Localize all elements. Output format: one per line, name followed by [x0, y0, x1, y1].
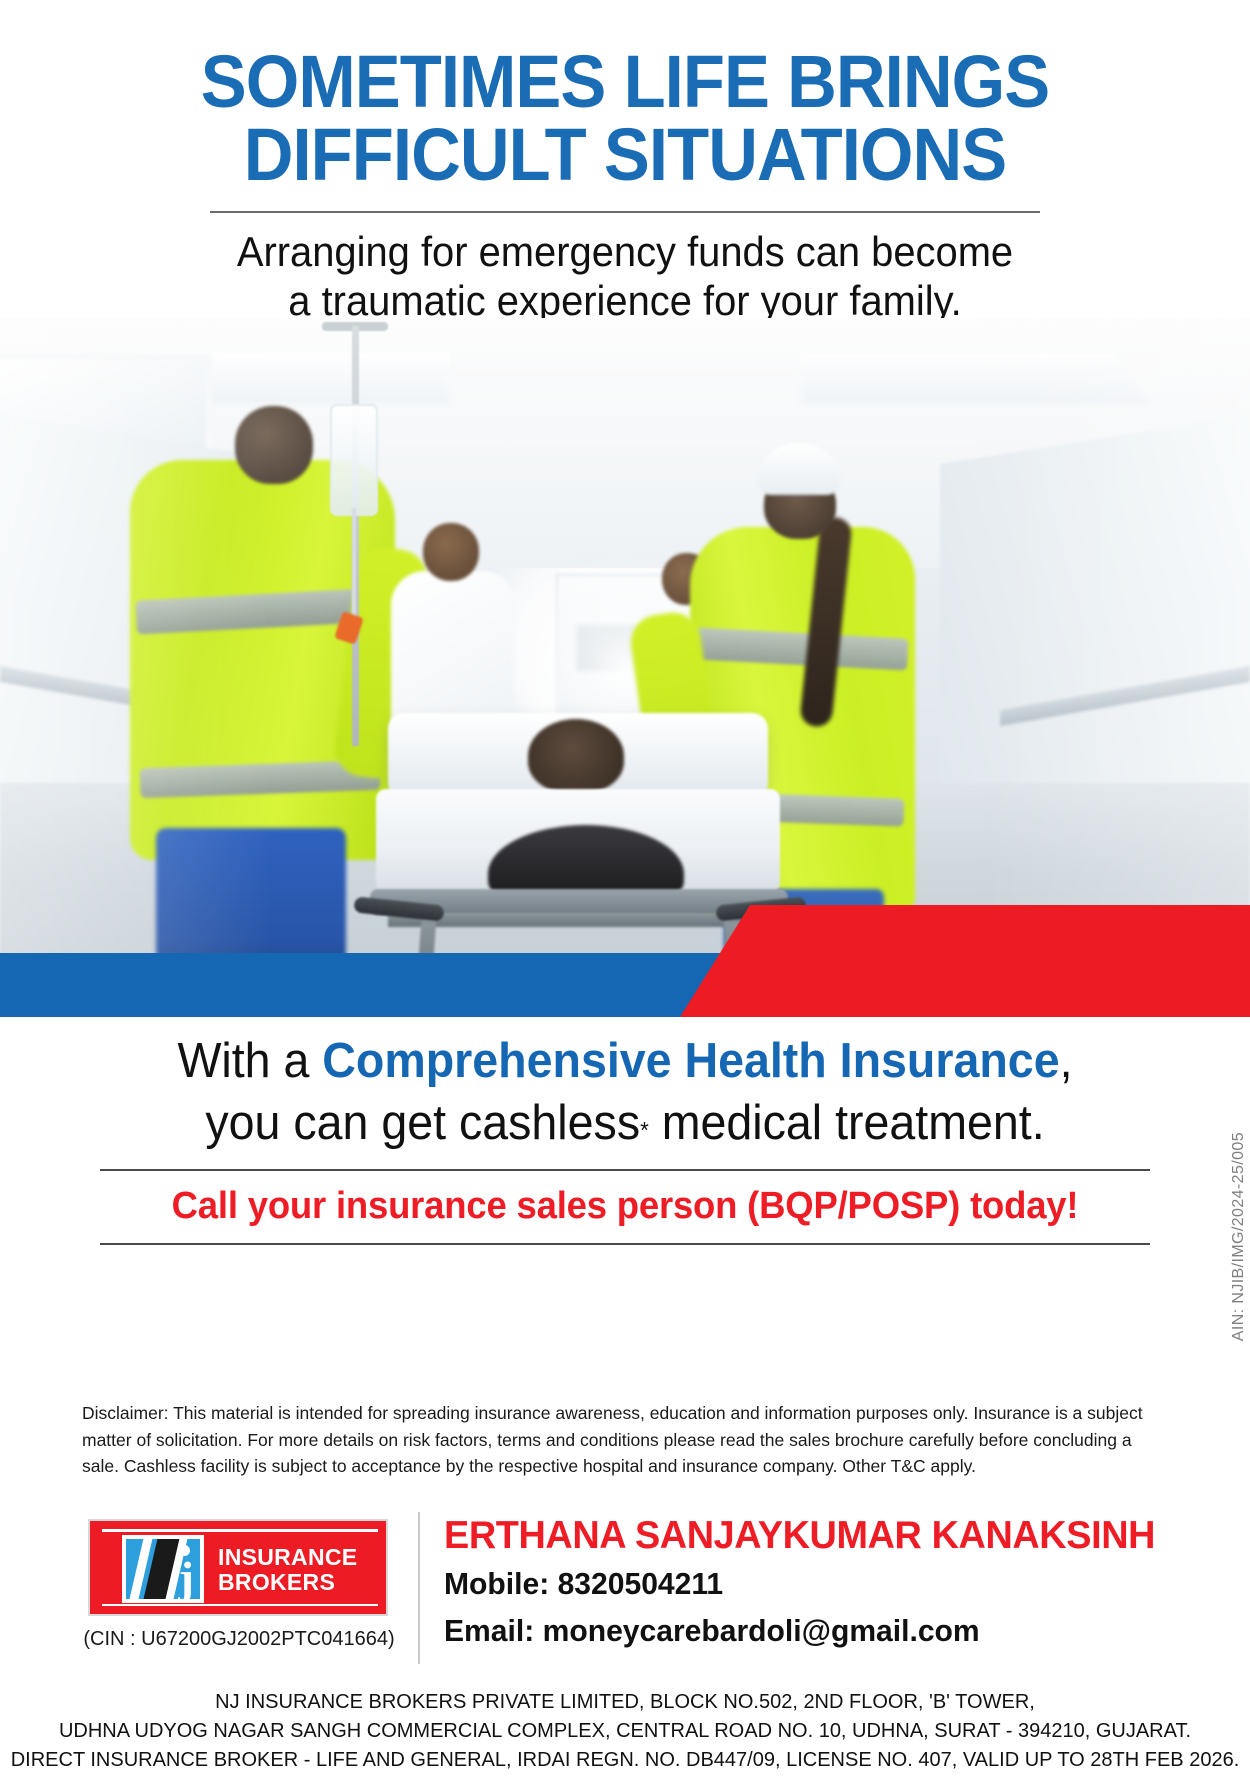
header-divider — [210, 211, 1040, 213]
agent-email[interactable]: Email: moneycarebardoli@gmail.com — [444, 1611, 1155, 1651]
message-line-2: you can get cashless* medical treatment. — [31, 1095, 1219, 1153]
nj-insurance-brokers-logo: j INSURANCE BROKERS — [88, 1519, 388, 1616]
agent-mobile[interactable]: Mobile: 8320504211 — [444, 1564, 1155, 1604]
poster-root: SOMETIMES LIFE BRINGS DIFFICULT SITUATIO… — [0, 0, 1250, 1780]
logo-wordmark: INSURANCE BROKERS — [218, 1545, 357, 1595]
monogram-j: j — [179, 1555, 194, 1599]
footer-line-2: UDHNA UDYOG NAGAR SANGH COMMERCIAL COMPL… — [0, 1717, 1250, 1746]
footer-line-1: NJ INSURANCE BROKERS PRIVATE LIMITED, BL… — [0, 1688, 1250, 1717]
head — [423, 523, 479, 581]
cin-number: (CIN : U67200GJ2002PTC041664) — [74, 1628, 404, 1651]
logo-wordmark-line-1: INSURANCE — [218, 1545, 357, 1570]
logo-rule-top — [102, 1529, 378, 1532]
message-line1-prefix: With a — [177, 1034, 322, 1088]
stretcher — [370, 713, 790, 1013]
message-divider-top — [100, 1169, 1150, 1171]
patient-head — [528, 719, 624, 793]
message-divider-bottom — [100, 1243, 1150, 1245]
logo-wordmark-line-2: BROKERS — [218, 1570, 357, 1595]
nj-monogram-icon: j — [122, 1535, 204, 1603]
agent-contact-block: ERTHANA SANJAYKUMAR KANAKSINH Mobile: 83… — [444, 1516, 1177, 1650]
message-highlight: Comprehensive Health Insurance — [322, 1034, 1059, 1088]
stretcher-bar — [388, 913, 770, 927]
disclaimer-text: Disclaimer: This material is intended fo… — [82, 1400, 1162, 1480]
middle-message: With a Comprehensive Health Insurance, y… — [0, 1033, 1250, 1245]
stretcher-leg-right — [724, 921, 745, 1013]
footer-line-3: DIRECT INSURANCE BROKER - LIFE AND GENER… — [0, 1746, 1250, 1775]
agent-name: ERTHANA SANJAYKUMAR KANAKSINH — [444, 1516, 1155, 1557]
message-line-1: With a Comprehensive Health Insurance, — [31, 1033, 1219, 1091]
scrub-trousers — [156, 828, 346, 988]
iv-bag — [330, 404, 378, 516]
company-footer: NJ INSURANCE BROKERS PRIVATE LIMITED, BL… — [0, 1688, 1250, 1774]
nj-monogram-inner: j — [126, 1539, 200, 1599]
message-line1-suffix: , — [1060, 1034, 1073, 1088]
call-to-action: Call your insurance sales person (BQP/PO… — [25, 1185, 1225, 1228]
header-subtitle: Arranging for emergency funds can become… — [31, 227, 1219, 325]
logo-rule-bottom — [102, 1604, 378, 1607]
head — [235, 406, 313, 484]
surgical-cap — [758, 443, 840, 495]
hospital-corridor-photo — [0, 318, 1250, 1013]
page-title: SOMETIMES LIFE BRINGS DIFFICULT SITUATIO… — [44, 46, 1207, 191]
message-line2-prefix: you can get cashless — [205, 1096, 640, 1150]
vertical-divider — [418, 1512, 420, 1664]
stretcher-leg-left — [415, 921, 436, 1013]
headline-line-2: DIFFICULT SITUATIONS — [44, 119, 1207, 192]
message-line2-suffix: medical treatment. — [649, 1096, 1045, 1150]
headline-line-1: SOMETIMES LIFE BRINGS — [201, 40, 1049, 123]
cashless-asterisk: * — [640, 1117, 649, 1143]
ceiling-light-right — [799, 352, 1150, 404]
subhead-line-1: Arranging for emergency funds can become — [237, 228, 1013, 275]
header-block: SOMETIMES LIFE BRINGS DIFFICULT SITUATIO… — [0, 46, 1250, 325]
